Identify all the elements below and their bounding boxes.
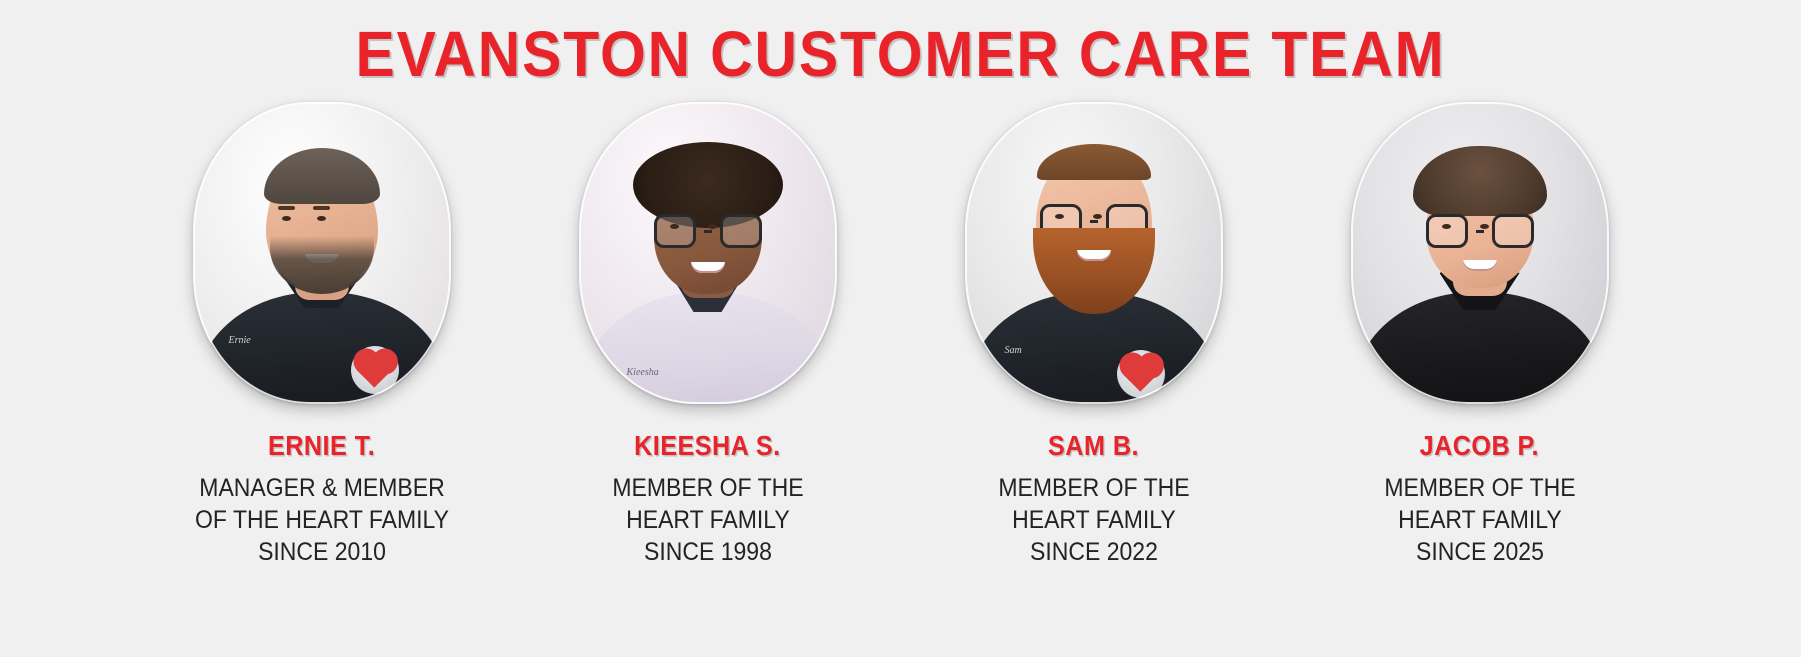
embroidered-name: Sam [1005, 345, 1022, 356]
eyebrow-right [313, 206, 330, 210]
member-role-line: SINCE 2025 [1384, 536, 1575, 568]
member-role-line: SINCE 2010 [195, 536, 449, 568]
member-role: MANAGER & MEMBER OF THE HEART FAMILY SIN… [195, 472, 449, 568]
team-member-row: Ernie ERNIE T. MANAGER & MEMBER OF THE H… [0, 102, 1801, 568]
member-role: MEMBER OF THE HEART FAMILY SINCE 2022 [998, 472, 1189, 568]
member-photo-frame[interactable]: Ernie [193, 102, 451, 404]
member-role: MEMBER OF THE HEART FAMILY SINCE 2025 [1384, 472, 1575, 568]
eye-right [317, 216, 326, 221]
member-name: SAM B. [1048, 430, 1139, 462]
eyebrow-left [278, 206, 295, 210]
glasses-icon [654, 214, 762, 248]
member-photo-frame[interactable]: Kieesha [579, 102, 837, 404]
eye-left [670, 224, 679, 229]
headshot-photo [1351, 102, 1609, 404]
member-role-line: OF THE HEART FAMILY [195, 504, 449, 536]
team-member-card[interactable]: Sam SAM B. MEMBER OF THE HEART FAMILY SI… [929, 102, 1259, 568]
member-role-line: SINCE 1998 [612, 536, 803, 568]
team-member-card[interactable]: JACOB P. MEMBER OF THE HEART FAMILY SINC… [1315, 102, 1645, 568]
member-name: ERNIE T. [268, 430, 375, 462]
member-role-line: HEART FAMILY [998, 504, 1189, 536]
headshot-photo: Sam [965, 102, 1223, 404]
headshot-photo: Kieesha [579, 102, 837, 404]
member-name: KIEESHA S. [634, 430, 780, 462]
member-role-line: HEART FAMILY [1384, 504, 1575, 536]
team-banner: EVANSTON CUSTOMER CARE TEAM [0, 0, 1801, 657]
member-role-line: MANAGER & MEMBER [195, 472, 449, 504]
eye-right [1480, 224, 1489, 229]
eye-left [282, 216, 291, 221]
glasses-icon [1426, 214, 1534, 248]
team-member-card[interactable]: Kieesha KIEESHA S. MEMBER OF THE HEART F… [543, 102, 873, 568]
heart-logo-icon [351, 346, 399, 394]
member-photo-frame[interactable]: Sam [965, 102, 1223, 404]
headshot-photo: Ernie [193, 102, 451, 404]
eye-left [1442, 224, 1451, 229]
member-role-line: MEMBER OF THE [1384, 472, 1575, 504]
eye-right [1093, 214, 1102, 219]
embroidered-name: Ernie [229, 335, 251, 346]
member-role: MEMBER OF THE HEART FAMILY SINCE 1998 [612, 472, 803, 568]
page-title: EVANSTON CUSTOMER CARE TEAM [72, 0, 1729, 86]
team-member-card[interactable]: Ernie ERNIE T. MANAGER & MEMBER OF THE H… [157, 102, 487, 568]
member-role-line: HEART FAMILY [612, 504, 803, 536]
member-role-line: MEMBER OF THE [612, 472, 803, 504]
eye-right [708, 224, 717, 229]
member-role-line: SINCE 2022 [998, 536, 1189, 568]
member-name: JACOB P. [1420, 430, 1539, 462]
member-photo-frame[interactable] [1351, 102, 1609, 404]
eye-left [1055, 214, 1064, 219]
member-role-line: MEMBER OF THE [998, 472, 1189, 504]
embroidered-name: Kieesha [627, 367, 659, 378]
heart-logo-icon [1117, 350, 1165, 398]
